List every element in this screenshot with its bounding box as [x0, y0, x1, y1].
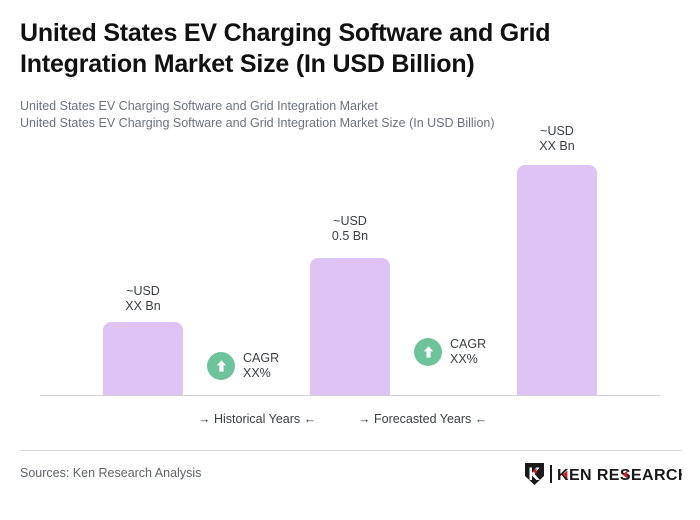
arrow-up-icon — [414, 338, 442, 366]
axis-label-historical-years-text: Historical Years — [214, 412, 300, 426]
footer-divider — [20, 450, 682, 451]
arrow-left-icon: ← — [475, 412, 488, 426]
bar-forecast[interactable] — [517, 165, 597, 395]
cagr-badge-2-line1: CAGR — [450, 337, 486, 352]
cagr-badge-2: CAGR XX% — [414, 337, 486, 366]
axis-label-historical-years: → Historical Years ← — [198, 409, 316, 429]
chart-baseline-axis — [40, 395, 660, 396]
bar-historical[interactable] — [103, 322, 183, 395]
ken-research-logo: KEN RESEARCH — [524, 462, 682, 486]
bar-value-label-3: ~USD XX Bn — [497, 124, 617, 153]
bar-value-label-3-line2: XX Bn — [497, 139, 617, 154]
sources-text: Sources: Ken Research Analysis — [20, 465, 201, 482]
bar-value-label-2: ~USD 0.5 Bn — [290, 214, 410, 243]
arrow-right-icon: → — [198, 412, 211, 426]
ken-research-wordmark: KEN RESEARCH — [550, 464, 682, 484]
bar-value-label-2-line1: ~USD — [290, 214, 410, 229]
cagr-badge-1-line2: XX% — [243, 366, 279, 381]
cagr-badge-1-text: CAGR XX% — [243, 351, 279, 380]
chart-axis-legend: → Historical Years ← → Forecasted Years … — [40, 409, 660, 429]
chart-page: United States EV Charging Software and G… — [0, 0, 700, 520]
arrow-left-icon: ← — [304, 412, 317, 426]
axis-label-forecasted-years: → Forecasted Years ← — [358, 409, 487, 429]
cagr-badge-1: CAGR XX% — [207, 351, 279, 380]
cagr-badge-2-line2: XX% — [450, 352, 486, 367]
bar-value-label-1-line2: XX Bn — [83, 299, 203, 314]
cagr-badge-1-line1: CAGR — [243, 351, 279, 366]
axis-label-forecasted-years-text: Forecasted Years — [374, 412, 471, 426]
ken-research-shield-icon — [524, 462, 545, 486]
arrow-right-icon: → — [358, 412, 371, 426]
cagr-badge-2-text: CAGR XX% — [450, 337, 486, 366]
bar-value-label-2-line2: 0.5 Bn — [290, 229, 410, 244]
bar-value-label-1-line1: ~USD — [83, 284, 203, 299]
arrow-up-icon — [207, 352, 235, 380]
chart-plot-area: ~USD XX Bn ~USD 0.5 Bn ~USD XX Bn CAGR X… — [0, 0, 700, 440]
bar-value-label-3-line1: ~USD — [497, 124, 617, 139]
bar-value-label-1: ~USD XX Bn — [83, 284, 203, 313]
svg-text:KEN RESEARCH: KEN RESEARCH — [557, 467, 682, 484]
bar-base-year[interactable] — [310, 258, 390, 395]
